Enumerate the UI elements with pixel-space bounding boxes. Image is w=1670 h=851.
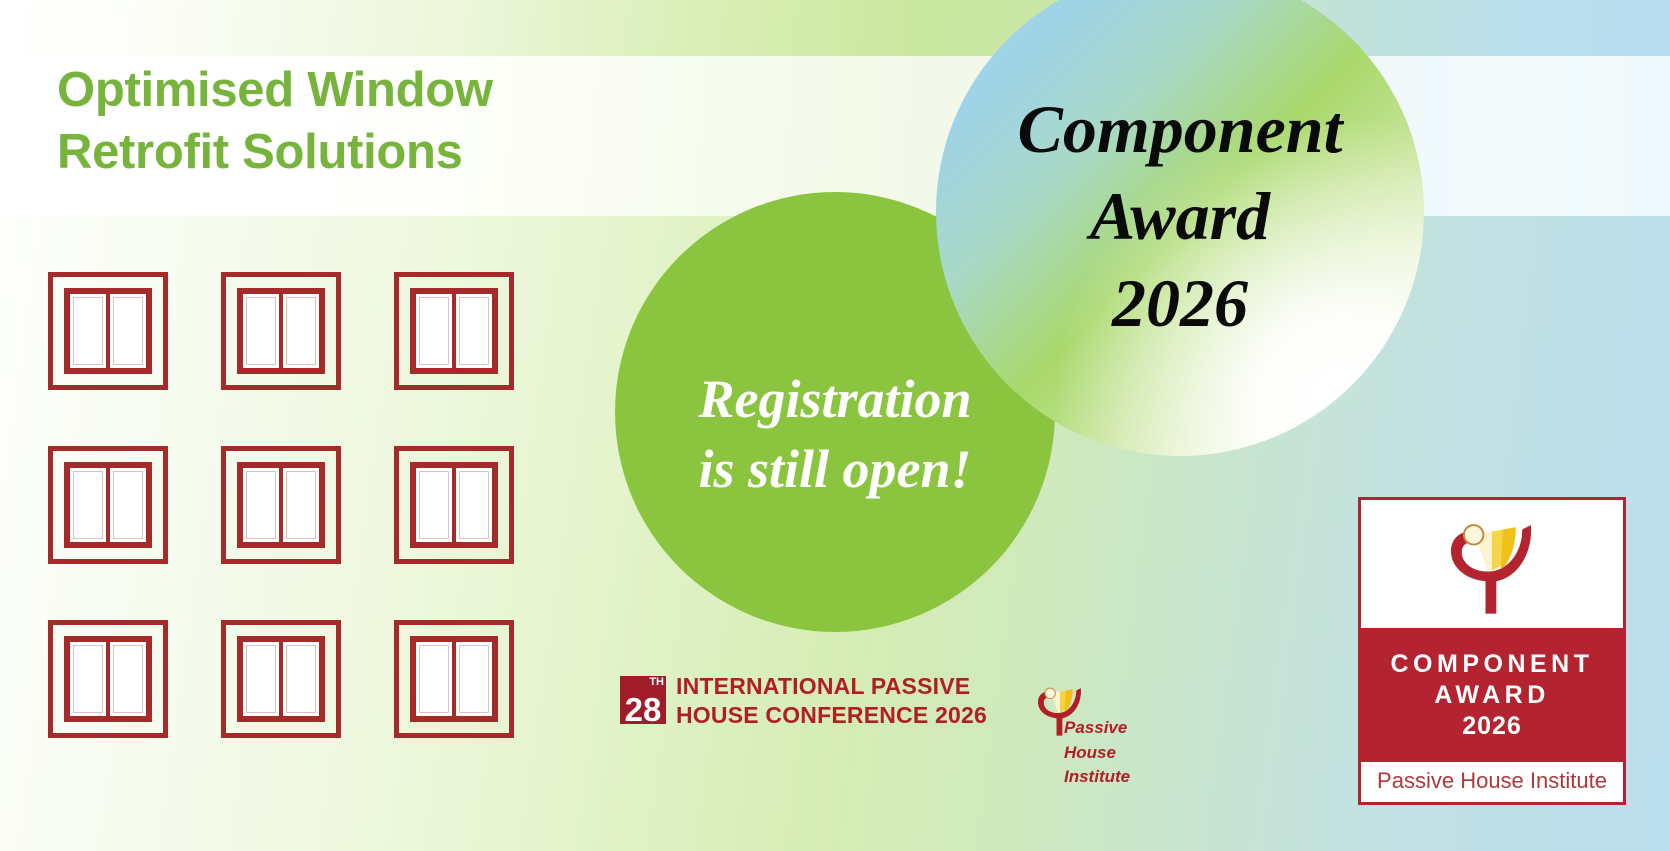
award-badge-line-3: 2026 xyxy=(1361,710,1623,743)
award-badge-logo-area xyxy=(1361,500,1623,628)
phi-mark-icon xyxy=(1030,680,1090,738)
award-badge-line-1: COMPONENT xyxy=(1361,649,1623,680)
window-inner-frame xyxy=(237,288,325,374)
component-award-text: Component Award 2026 xyxy=(936,86,1424,347)
window-glass xyxy=(113,645,143,713)
window-pane-left xyxy=(414,640,454,718)
window-glass xyxy=(73,645,103,713)
window-glass xyxy=(459,645,489,713)
conference-logo: TH 28 INTERNATIONAL PASSIVE HOUSE CONFER… xyxy=(620,672,987,729)
window-inner-frame xyxy=(64,288,152,374)
window-icon xyxy=(48,446,168,564)
conference-edition-number: 28 xyxy=(620,693,666,726)
window-inner-frame xyxy=(64,462,152,548)
window-inner-frame xyxy=(237,462,325,548)
window-glass xyxy=(73,471,103,539)
registration-line-2: is still open! xyxy=(615,434,1055,504)
award-badge-footer: Passive House Institute xyxy=(1361,759,1623,802)
headline-line-1: Optimised Window xyxy=(57,60,617,122)
window-inner-frame xyxy=(410,636,498,722)
phi-leaf-icon xyxy=(1437,510,1547,618)
phi-leaf-icon xyxy=(1030,680,1090,738)
window-pane-right xyxy=(281,640,321,718)
window-pane-left xyxy=(241,466,281,544)
award-badge-line-2: AWARD xyxy=(1361,680,1623,711)
passive-house-institute-logo: Passive House Institute xyxy=(1030,680,1140,790)
phi-line-2: Institute xyxy=(1064,765,1159,790)
window-icon xyxy=(221,620,341,738)
conference-number-badge: TH 28 xyxy=(620,676,666,724)
window-pane-right xyxy=(454,640,494,718)
registration-line-1: Registration xyxy=(615,364,1055,434)
window-pane-left xyxy=(68,466,108,544)
conference-ordinal-suffix: TH xyxy=(649,677,664,688)
window-icon xyxy=(394,620,514,738)
conference-line-1: INTERNATIONAL PASSIVE xyxy=(676,672,987,701)
window-pane-left xyxy=(414,466,454,544)
award-line-3: 2026 xyxy=(936,260,1424,347)
registration-text: Registration is still open! xyxy=(615,364,1055,504)
window-glass xyxy=(113,297,143,365)
window-pane-left xyxy=(68,640,108,718)
window-inner-frame xyxy=(410,288,498,374)
window-pane-left xyxy=(414,292,454,370)
window-glass xyxy=(246,297,276,365)
award-badge-phi-icon xyxy=(1437,510,1547,618)
award-line-1: Component xyxy=(936,86,1424,173)
background-top-band xyxy=(0,0,1670,56)
window-icon xyxy=(221,446,341,564)
window-icon xyxy=(221,272,341,390)
window-inner-frame xyxy=(237,636,325,722)
window-pane-right xyxy=(108,292,148,370)
window-inner-frame xyxy=(410,462,498,548)
window-glass xyxy=(286,471,316,539)
window-icon xyxy=(394,272,514,390)
window-pane-right xyxy=(454,466,494,544)
window-icon-grid xyxy=(48,272,518,738)
promotional-banner: Optimised Window Retrofit Solutions xyxy=(0,0,1670,851)
window-glass xyxy=(459,471,489,539)
window-glass xyxy=(286,645,316,713)
window-glass xyxy=(246,471,276,539)
page-title: Optimised Window Retrofit Solutions xyxy=(57,60,617,183)
window-pane-right xyxy=(281,292,321,370)
window-pane-left xyxy=(241,292,281,370)
window-glass xyxy=(73,297,103,365)
conference-logo-text: INTERNATIONAL PASSIVE HOUSE CONFERENCE 2… xyxy=(676,672,987,729)
award-line-2: Award xyxy=(936,173,1424,260)
window-pane-right xyxy=(108,466,148,544)
window-pane-left xyxy=(68,292,108,370)
window-inner-frame xyxy=(64,636,152,722)
window-glass xyxy=(419,471,449,539)
window-glass xyxy=(419,297,449,365)
window-glass xyxy=(459,297,489,365)
window-glass xyxy=(286,297,316,365)
window-glass xyxy=(246,645,276,713)
window-icon xyxy=(394,446,514,564)
window-pane-right xyxy=(281,466,321,544)
award-badge-title-band: COMPONENT AWARD 2026 xyxy=(1361,628,1623,759)
headline-line-2: Retrofit Solutions xyxy=(57,122,617,184)
component-award-badge: COMPONENT AWARD 2026 Passive House Insti… xyxy=(1358,497,1626,805)
window-glass xyxy=(419,645,449,713)
window-pane-left xyxy=(241,640,281,718)
window-pane-right xyxy=(454,292,494,370)
window-icon xyxy=(48,272,168,390)
conference-line-2: HOUSE CONFERENCE 2026 xyxy=(676,701,987,730)
window-glass xyxy=(113,471,143,539)
window-pane-right xyxy=(108,640,148,718)
window-icon xyxy=(48,620,168,738)
